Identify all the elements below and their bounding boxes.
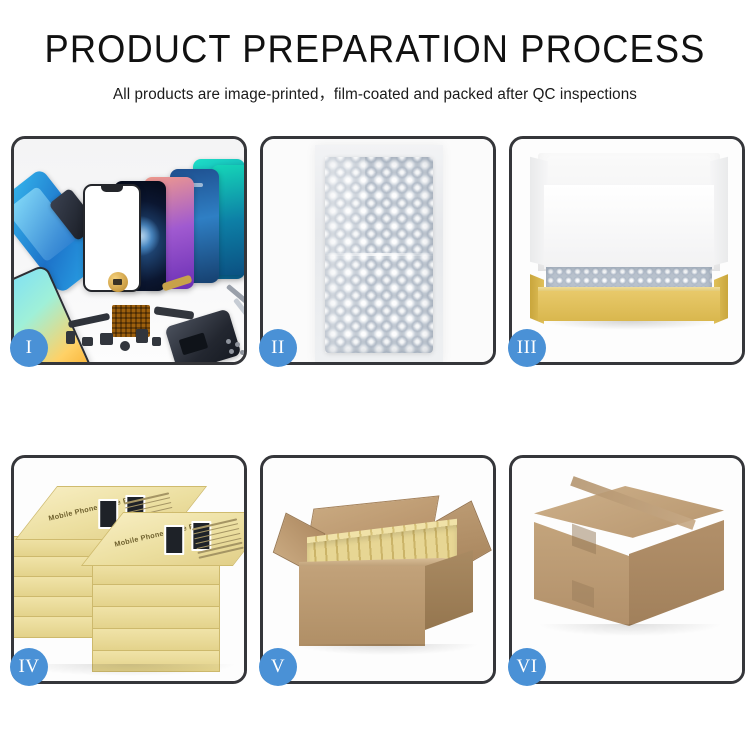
sealed-carton-right-face [629, 520, 724, 626]
stacked-box-front-4 [92, 628, 220, 652]
box-screen-thumb-front-1 [164, 525, 184, 555]
spare-parts-group [66, 267, 244, 362]
carton-drop-shadow [297, 644, 477, 655]
part-camera-module [108, 272, 128, 292]
step-image-phones-and-parts [14, 139, 244, 362]
step-panel-1: I [11, 136, 247, 365]
step-badge-3: III [508, 329, 546, 367]
part-small-1 [66, 331, 75, 344]
step-badge-6: VI [508, 648, 546, 686]
box-foam-liner [544, 185, 714, 269]
stack-drop-shadow [22, 664, 234, 676]
step-panel-4: Mobile Phone Spare Parts Mobile Phone Sp… [11, 455, 247, 684]
step-badge-2: II [259, 329, 297, 367]
step-image-bubble-wrap [263, 139, 493, 362]
box-front-kraft [538, 291, 720, 321]
carton-front-face [299, 566, 425, 646]
step-image-stacked-boxes: Mobile Phone Spare Parts Mobile Phone Sp… [14, 458, 244, 681]
part-small-2 [82, 337, 93, 346]
page-subtitle: All products are image-printed，film-coat… [8, 82, 743, 104]
part-small-5 [136, 329, 148, 343]
page-header: PRODUCT PREPARATION PROCESS All products… [0, 0, 750, 104]
stacked-box-front-2 [92, 584, 220, 608]
step-image-sealed-carton [512, 458, 742, 681]
part-screws [226, 339, 244, 357]
step-badge-1: I [10, 329, 48, 367]
part-small-3 [100, 333, 113, 345]
step-image-open-flat-box [512, 139, 742, 362]
part-small-6 [152, 337, 161, 346]
process-steps-grid: I II III [11, 136, 739, 684]
sealed-carton-drop-shadow [540, 624, 720, 636]
step-badge-4: IV [10, 648, 48, 686]
stacked-box-front-3 [92, 606, 220, 630]
part-flex-cable-1 [68, 313, 111, 329]
box-stack: Mobile Phone Spare Parts Mobile Phone Sp… [14, 458, 244, 681]
part-flex-cable-gold [161, 275, 192, 292]
step-panel-6: VI [509, 455, 745, 684]
part-flex-cable-2 [154, 306, 195, 319]
step-image-open-carton [263, 458, 493, 681]
step-panel-2: II [260, 136, 496, 365]
step-badge-5: V [259, 648, 297, 686]
step-panel-5: V [260, 455, 496, 684]
step-panel-3: III [509, 136, 745, 365]
bubble-wrap-highlight [325, 157, 365, 353]
page-title: PRODUCT PREPARATION PROCESS [26, 30, 724, 71]
part-small-4 [120, 341, 130, 351]
box-drop-shadow [542, 321, 718, 330]
